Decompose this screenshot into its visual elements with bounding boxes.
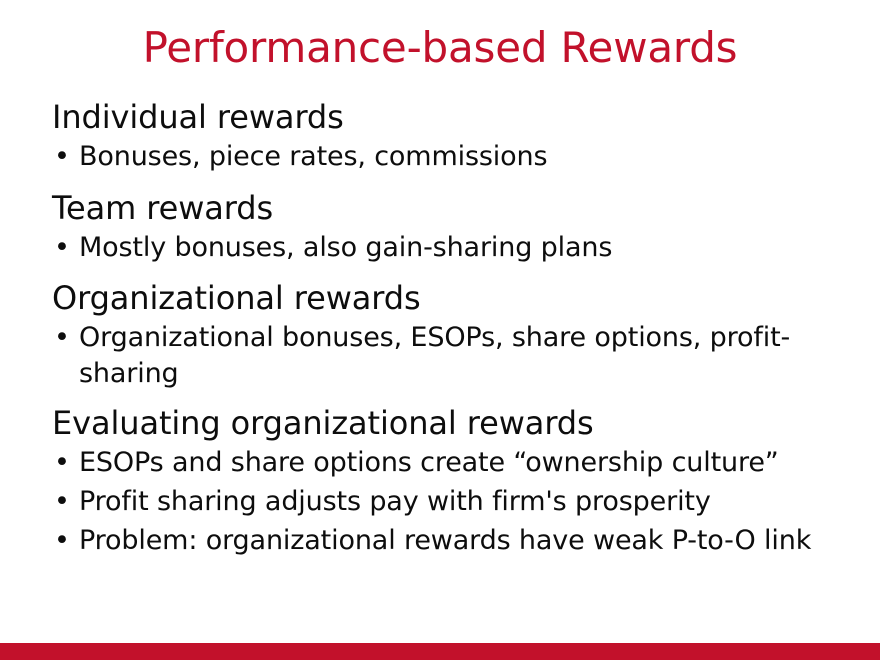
bullet-list-team-rewards: • Mostly bonuses, also gain-sharing plan… [48, 230, 848, 266]
bullet-dot-icon: • [54, 445, 70, 481]
slide-body: Individual rewards • Bonuses, piece rate… [48, 96, 848, 559]
section-heading-evaluating-organizational-rewards: Evaluating organizational rewards [48, 402, 848, 444]
list-item-label: Profit sharing adjusts pay with firm's p… [79, 486, 711, 517]
list-item-label: Mostly bonuses, also gain-sharing plans [79, 232, 612, 263]
section-team-rewards: Team rewards • Mostly bonuses, also gain… [48, 187, 848, 266]
section-organizational-rewards: Organizational rewards • Organizational … [48, 277, 848, 392]
bullet-list-organizational-rewards: • Organizational bonuses, ESOPs, share o… [48, 320, 848, 392]
list-item-label: Problem: organizational rewards have wea… [79, 525, 811, 556]
page-title: Performance-based Rewards [0, 22, 880, 74]
bullet-dot-icon: • [54, 230, 70, 266]
bullet-dot-icon: • [54, 139, 70, 175]
list-item: • Bonuses, piece rates, commissions [48, 139, 848, 175]
list-item: • ESOPs and share options create “owners… [48, 445, 848, 481]
footer-accent-bar [0, 643, 880, 660]
bullet-list-evaluating-organizational-rewards: • ESOPs and share options create “owners… [48, 445, 848, 559]
section-evaluating-organizational-rewards: Evaluating organizational rewards • ESOP… [48, 402, 848, 559]
list-item: • Organizational bonuses, ESOPs, share o… [48, 320, 848, 392]
list-item-label: Bonuses, piece rates, commissions [79, 141, 547, 172]
slide: Performance-based Rewards Individual rew… [0, 0, 880, 660]
bullet-dot-icon: • [54, 484, 70, 520]
list-item: • Profit sharing adjusts pay with firm's… [48, 484, 848, 520]
list-item: • Mostly bonuses, also gain-sharing plan… [48, 230, 848, 266]
bullet-list-individual-rewards: • Bonuses, piece rates, commissions [48, 139, 848, 175]
section-heading-team-rewards: Team rewards [48, 187, 848, 229]
list-item-label: ESOPs and share options create “ownershi… [79, 447, 779, 478]
bullet-dot-icon: • [54, 320, 70, 356]
section-heading-organizational-rewards: Organizational rewards [48, 277, 848, 319]
bullet-dot-icon: • [54, 523, 70, 559]
section-individual-rewards: Individual rewards • Bonuses, piece rate… [48, 96, 848, 175]
section-heading-individual-rewards: Individual rewards [48, 96, 848, 138]
list-item-label: Organizational bonuses, ESOPs, share opt… [79, 322, 790, 389]
list-item: • Problem: organizational rewards have w… [48, 523, 848, 559]
